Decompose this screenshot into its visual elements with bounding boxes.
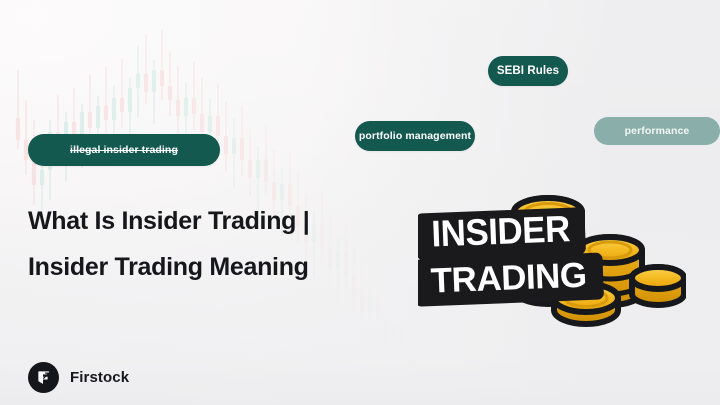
candle (168, 52, 172, 116)
insider-trading-graphic: INSIDER TRADING (418, 182, 686, 332)
candle (240, 106, 244, 176)
candle (144, 34, 148, 104)
tag-label: performance (625, 125, 690, 137)
brand-name: Firstock (70, 369, 129, 386)
tag-performance[interactable]: performance (594, 117, 720, 145)
candle (248, 128, 252, 196)
coin-leaning (632, 267, 684, 305)
candle (16, 70, 20, 150)
candle (192, 62, 196, 130)
candle (400, 296, 404, 360)
candle (136, 46, 140, 118)
banner-trading-text: TRADING (430, 256, 587, 301)
candle (368, 282, 372, 348)
candle (384, 290, 388, 356)
candle (88, 74, 92, 142)
candle (152, 60, 156, 124)
page-title: What Is Insider Trading | Insider Tradin… (28, 198, 380, 290)
candle (264, 126, 268, 194)
candle (224, 102, 228, 172)
firstock-arrow-logo-icon (28, 362, 59, 393)
candle (408, 318, 412, 382)
candle (232, 118, 236, 188)
candle (120, 58, 124, 128)
candle (392, 310, 396, 374)
banner-trading: TRADING (418, 255, 600, 303)
tag-sebi-rules[interactable]: SEBI Rules (488, 56, 568, 86)
blog-banner: illegal insider trading SEBI Rules portf… (0, 0, 720, 405)
candle (24, 100, 28, 175)
tag-label: portfolio management (359, 130, 471, 142)
banner-insider-text: INSIDER (431, 207, 571, 254)
candle (176, 66, 180, 134)
candle (104, 66, 108, 134)
brand-footer[interactable]: Firstock (28, 362, 129, 393)
tag-label: illegal insider trading (70, 144, 178, 156)
candle (160, 30, 164, 100)
insider-trading-artwork: INSIDER TRADING (418, 182, 686, 332)
tag-illegal-insider-trading[interactable]: illegal insider trading (28, 134, 220, 166)
tag-portfolio-management[interactable]: portfolio management (355, 121, 475, 151)
banner-insider: INSIDER (419, 207, 583, 257)
tag-label: SEBI Rules (497, 65, 559, 77)
